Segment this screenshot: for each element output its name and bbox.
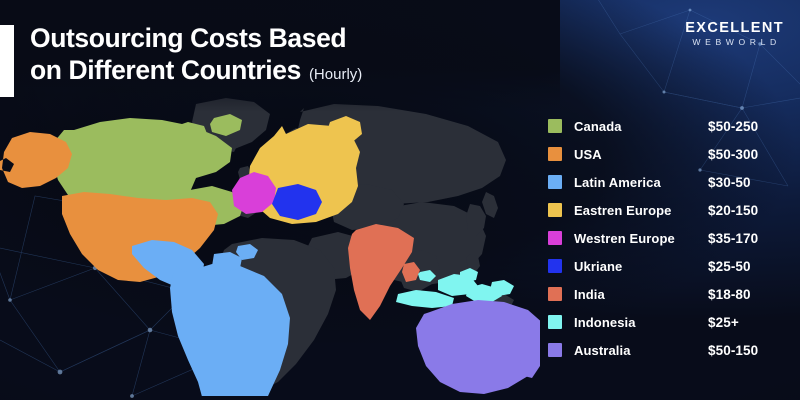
legend-country-label: Latin America <box>574 175 708 190</box>
legend-country-label: India <box>574 287 708 302</box>
legend-row: Eastren Europe$20-150 <box>548 196 792 224</box>
legend-price-value: $25-50 <box>708 259 792 274</box>
brand-logo: EXCELLENT WEBWORLD <box>685 20 784 48</box>
logo-primary-text: EXCELLENT <box>685 20 784 36</box>
title-line-1: Outsourcing Costs Based <box>30 22 500 54</box>
title-accent-bar <box>0 25 14 97</box>
legend-row: Latin America$30-50 <box>548 168 792 196</box>
legend-color-swatch <box>548 203 562 217</box>
legend-country-label: Eastren Europe <box>574 203 708 218</box>
logo-secondary-text: WEBWORLD <box>689 36 784 48</box>
infographic-canvas: Outsourcing Costs Based on Different Cou… <box>0 0 800 400</box>
title-line-2: on Different Countries <box>30 54 301 86</box>
legend-price-value: $20-150 <box>708 203 792 218</box>
legend-country-label: Indonesia <box>574 315 708 330</box>
legend-row: Ukriane$25-50 <box>548 252 792 280</box>
legend-price-value: $50-150 <box>708 343 792 358</box>
legend-color-swatch <box>548 343 562 357</box>
page-title: Outsourcing Costs Based on Different Cou… <box>30 22 500 91</box>
legend-color-swatch <box>548 287 562 301</box>
legend-country-label: Ukriane <box>574 259 708 274</box>
legend-color-swatch <box>548 259 562 273</box>
legend-price-value: $30-50 <box>708 175 792 190</box>
legend-color-swatch <box>548 231 562 245</box>
title-suffix: (Hourly) <box>309 59 362 91</box>
legend-color-swatch <box>548 147 562 161</box>
legend-price-value: $50-250 <box>708 119 792 134</box>
legend-row: Indonesia$25+ <box>548 308 792 336</box>
legend-row: Australia$50-150 <box>548 336 792 364</box>
legend-list: Canada$50-250USA$50-300Latin America$30-… <box>548 112 792 364</box>
legend-country-label: Australia <box>574 343 708 358</box>
legend-row: India$18-80 <box>548 280 792 308</box>
legend-color-swatch <box>548 315 562 329</box>
legend-row: Westren Europe$35-170 <box>548 224 792 252</box>
legend-price-value: $35-170 <box>708 231 792 246</box>
legend-country-label: Westren Europe <box>574 231 708 246</box>
legend-country-label: Canada <box>574 119 708 134</box>
legend-country-label: USA <box>574 147 708 162</box>
legend-color-swatch <box>548 119 562 133</box>
legend-color-swatch <box>548 175 562 189</box>
legend-row: USA$50-300 <box>548 140 792 168</box>
legend-price-value: $50-300 <box>708 147 792 162</box>
legend-row: Canada$50-250 <box>548 112 792 140</box>
legend-price-value: $18-80 <box>708 287 792 302</box>
legend-price-value: $25+ <box>708 315 792 330</box>
